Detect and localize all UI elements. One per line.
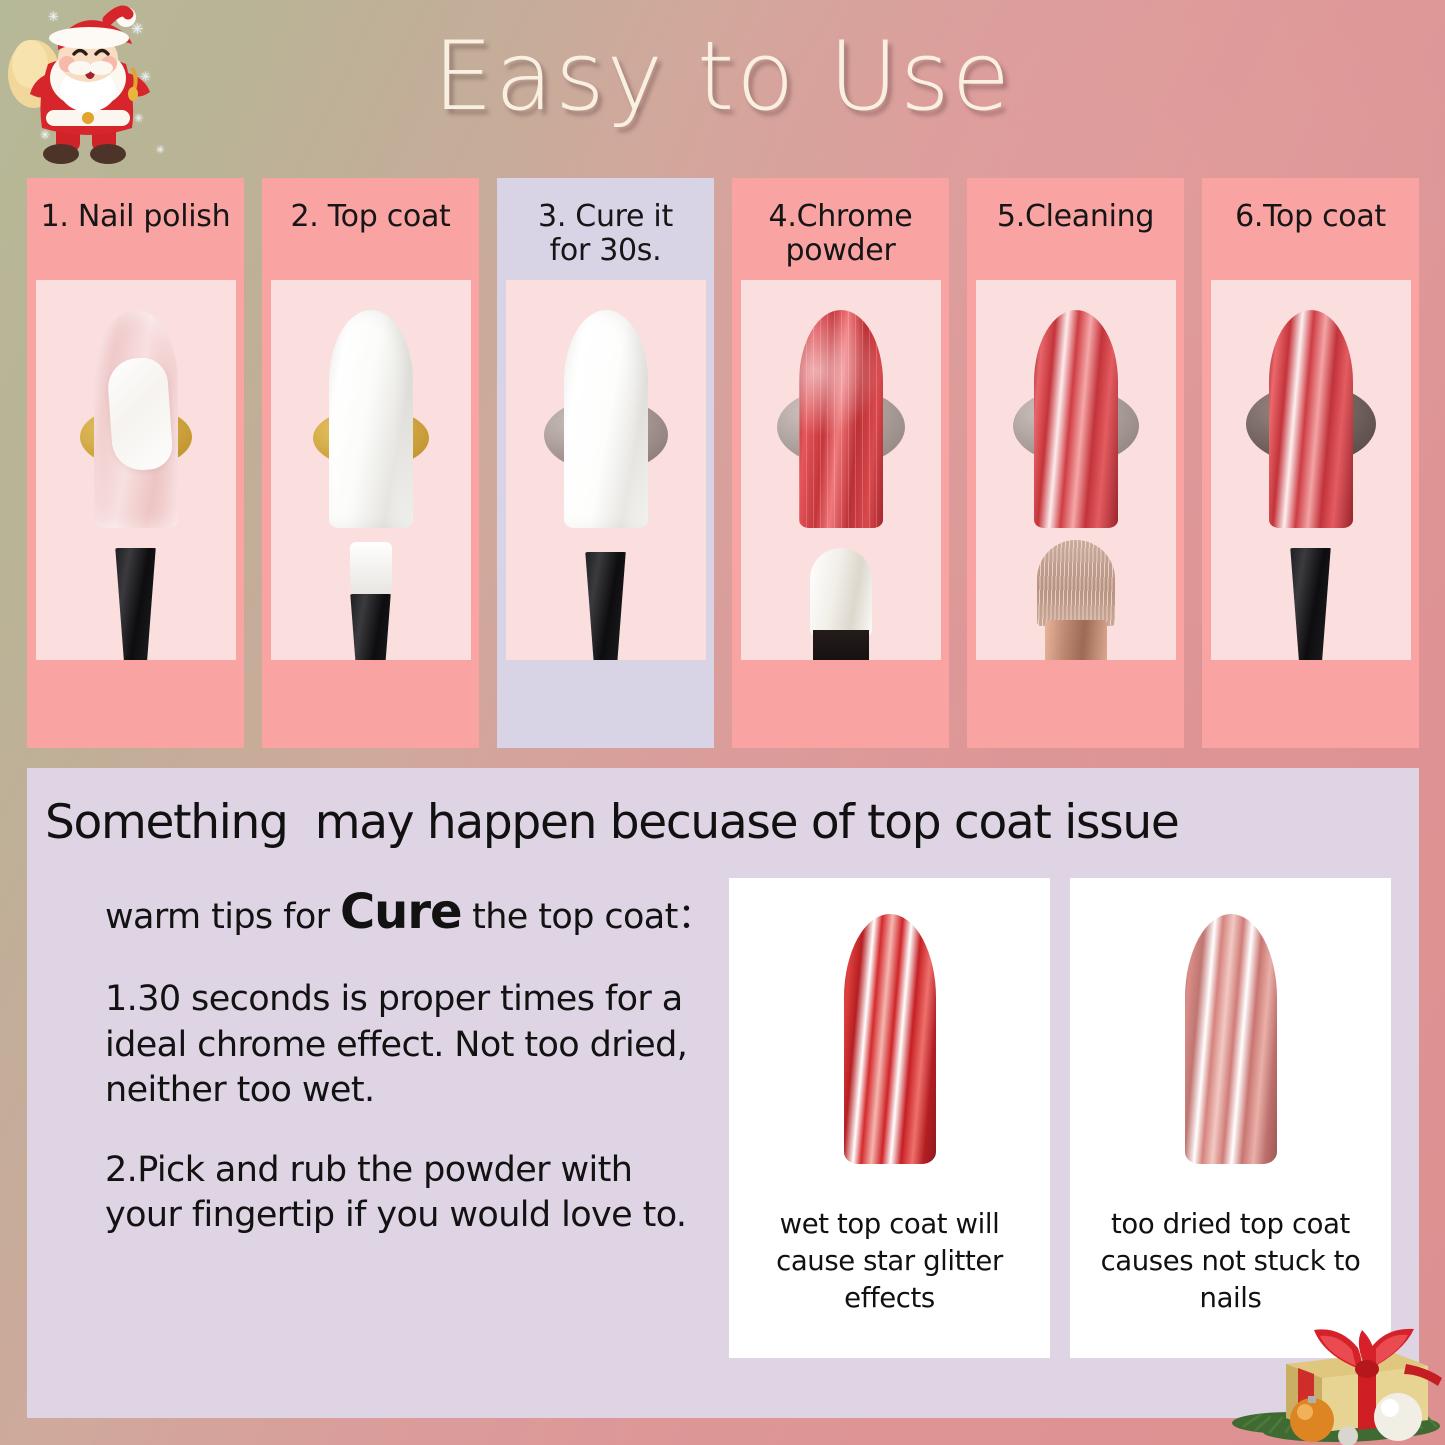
snowflake-icon: ✳ [140,70,151,83]
step-photo-2 [271,280,471,660]
comparison-card-wet: wet top coat will cause star glitter eff… [729,878,1050,1358]
step-card-5: 5.Cleaning [967,178,1184,748]
step-photo-5 [976,280,1176,660]
tip-item-2: 2.Pick and rub the powder with your fing… [105,1148,719,1239]
bottle-cap-tool [583,552,629,660]
snowflake-icon: ✳ [134,114,143,125]
step-label-1: 1. Nail polish [27,178,244,278]
sponge-applicator-tool [810,548,872,636]
step-label-4: 4.Chrome powder [732,178,949,278]
comparison-caption-dried: too dried top coat causes not stuck to n… [1070,1200,1391,1317]
nail-bright-red-chrome [844,914,936,1164]
tips-panel: Something may happen becuase of top coat… [27,768,1419,1418]
comparison-photo-wet [729,878,1050,1200]
tips-intro-cure: Cure [340,884,462,940]
nail-white-glossy [329,310,413,528]
snowflake-icon: ✳ [131,22,144,37]
step-card-4: 4.Chrome powder [732,178,949,748]
steps-strip: 1. Nail polish 2. Top coat [27,178,1419,748]
step-photo-6 [1211,280,1411,660]
snowflake-icon: ✳ [40,129,50,141]
tips-panel-body: warm tips for Cure the top coat： 1.30 se… [27,850,1419,1358]
step-photo-4 [741,280,941,660]
step-label-5: 5.Cleaning [967,178,1184,278]
snowflake-icon: ✳ [156,146,164,156]
tip-item-1: 1.30 seconds is proper times for a ideal… [105,977,719,1114]
comparison-group: wet top coat will cause star glitter eff… [729,872,1391,1358]
step-photo-1 [36,280,236,660]
tips-intro-before: warm tips for [105,897,340,937]
step-card-6: 6.Top coat [1202,178,1419,748]
tips-panel-heading: Something may happen becuase of top coat… [27,768,1419,850]
nail-white-glossy [564,310,648,528]
tips-intro: warm tips for Cure the top coat： [105,882,719,943]
nail-red-chrome [1034,310,1118,528]
step-card-2: 2. Top coat [262,178,479,748]
comparison-caption-wet: wet top coat will cause star glitter eff… [729,1200,1050,1317]
infographic-canvas: ✳ ✳ ✳ ✳ ✳ ✳ Easy to Use 1. Nail polish 2… [0,0,1445,1445]
step-label-2: 2. Top coat [262,178,479,278]
bottle-cap-tool [113,548,159,660]
step-photo-3 [506,280,706,660]
snowflake-icon: ✳ [48,10,59,23]
white-polish-smear [106,356,174,472]
nail-red-glitter-chrome [799,310,883,528]
tips-intro-after: the top coat： [462,897,713,937]
comparison-card-dried: too dried top coat causes not stuck to n… [1070,878,1391,1358]
comparison-photo-dried [1070,878,1391,1200]
makeup-brush-tool [1037,540,1115,626]
step-card-3: 3. Cure it for 30s. [497,178,714,748]
step-label-3: 3. Cure it for 30s. [497,178,714,278]
step-card-1: 1. Nail polish [27,178,244,748]
page-title: Easy to Use [0,22,1445,132]
bottle-cap-tool [1288,548,1334,660]
nail-dusty-rose-chrome [1185,914,1277,1164]
step-label-6: 6.Top coat [1202,178,1419,278]
bottle-brush-tool [348,542,394,660]
nail-red-chrome [1269,310,1353,528]
santa-claus-icon: ✳ ✳ ✳ ✳ ✳ ✳ [4,2,179,174]
tips-column: warm tips for Cure the top coat： 1.30 se… [43,872,719,1358]
